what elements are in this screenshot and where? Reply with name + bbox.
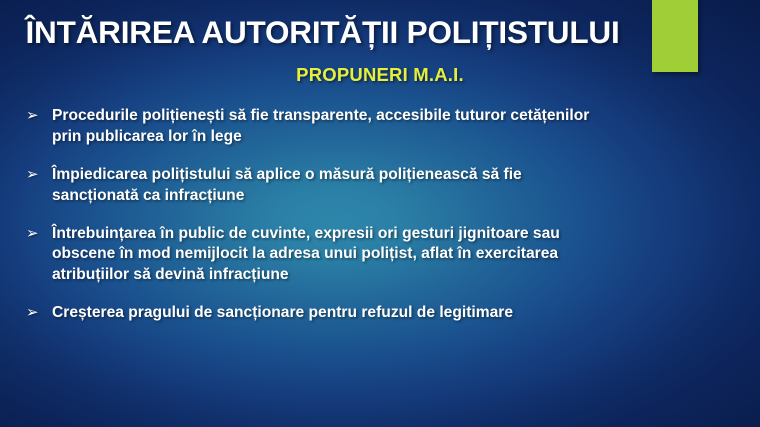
list-item: ➢ Creșterea pragului de sancționare pent… — [24, 303, 742, 324]
bullet-list: ➢ Procedurile polițienești să fie transp… — [24, 106, 742, 324]
arrow-bullet-icon: ➢ — [26, 106, 46, 126]
list-item-text: Împiedicarea polițistului să aplice o mă… — [52, 165, 742, 207]
list-item: ➢ Procedurile polițienești să fie transp… — [24, 106, 742, 148]
presentation-slide: ÎNTĂRIREA AUTORITĂȚII POLIȚISTULUI PROPU… — [0, 0, 760, 427]
list-item-text: Procedurile polițienești să fie transpar… — [52, 106, 742, 148]
list-item-text: Creșterea pragului de sancționare pentru… — [52, 303, 742, 324]
list-item-text: Întrebuințarea în public de cuvinte, exp… — [52, 224, 742, 287]
slide-content: ÎNTĂRIREA AUTORITĂȚII POLIȚISTULUI PROPU… — [0, 0, 760, 427]
list-item: ➢ Întrebuințarea în public de cuvinte, e… — [24, 224, 742, 287]
slide-title: ÎNTĂRIREA AUTORITĂȚII POLIȚISTULUI — [0, 16, 645, 49]
arrow-bullet-icon: ➢ — [26, 303, 46, 323]
arrow-bullet-icon: ➢ — [26, 165, 46, 185]
list-item: ➢ Împiedicarea polițistului să aplice o … — [24, 165, 742, 207]
slide-subtitle: PROPUNERI M.A.I. — [0, 64, 760, 86]
green-accent-rectangle — [652, 0, 698, 72]
arrow-bullet-icon: ➢ — [26, 224, 46, 244]
